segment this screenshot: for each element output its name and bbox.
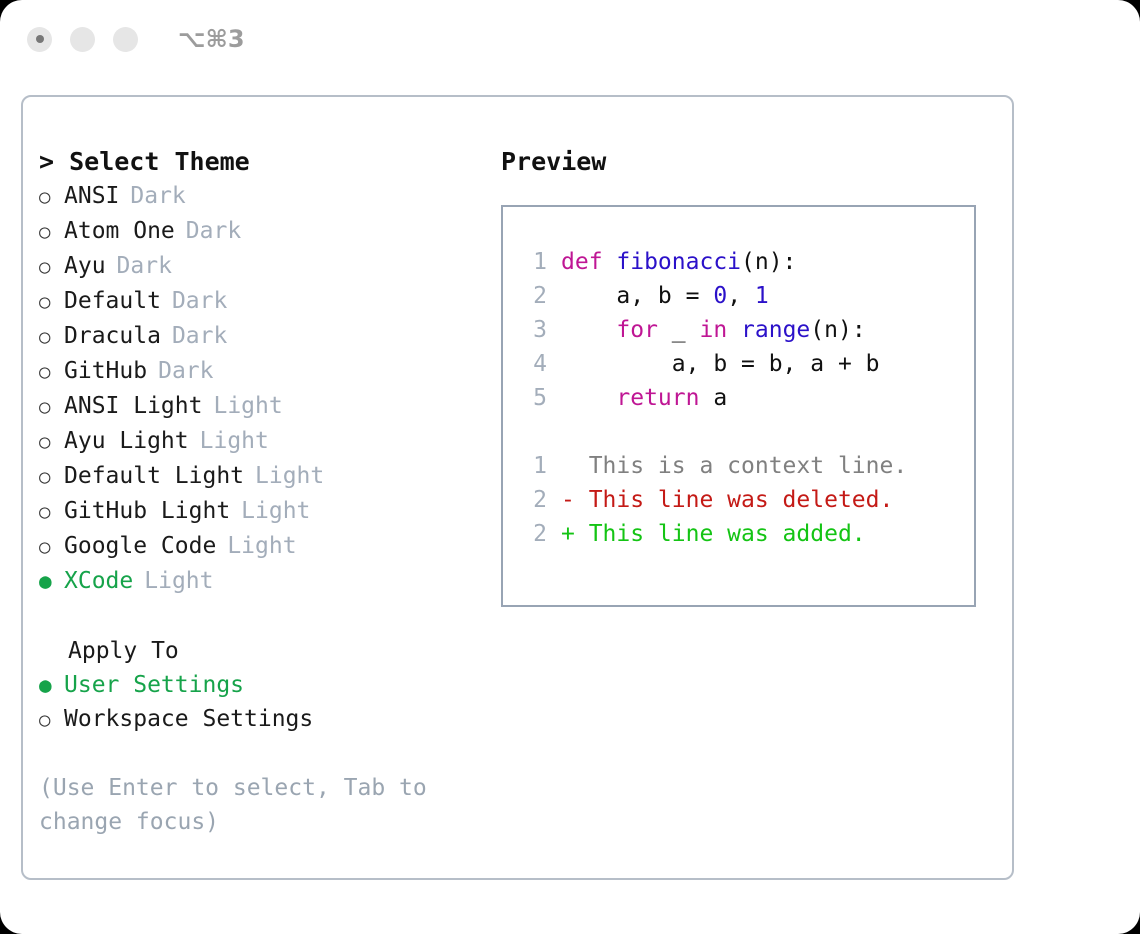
code-token: 0 xyxy=(713,279,727,313)
theme-variant-tag: Light xyxy=(255,459,324,493)
select-theme-heading: > Select Theme xyxy=(39,145,485,179)
theme-variant-tag: Dark xyxy=(172,319,227,353)
theme-list: ○ANSIDark○Atom OneDark○AyuDark○DefaultDa… xyxy=(39,179,485,598)
theme-name: Default Light xyxy=(64,459,244,493)
theme-variant-tag: Dark xyxy=(158,354,213,388)
main-panel: > Select Theme ○ANSIDark○Atom OneDark○Ay… xyxy=(21,95,1014,880)
radio-unselected-icon: ○ xyxy=(39,390,64,424)
window-control-maximize[interactable] xyxy=(113,27,138,52)
code-token xyxy=(727,313,741,347)
keyboard-shortcut-label: ⌥⌘3 xyxy=(178,25,245,53)
radio-unselected-icon: ○ xyxy=(39,530,64,564)
diff-sample: 1 This is a context line.2- This line wa… xyxy=(513,449,974,551)
diff-line: 2- This line was deleted. xyxy=(513,483,974,517)
theme-variant-tag: Dark xyxy=(186,214,241,248)
line-number: 1 xyxy=(513,449,547,483)
radio-unselected-icon: ○ xyxy=(39,460,64,494)
code-line: 2 a, b = 0, 1 xyxy=(513,279,974,313)
code-token: (n): xyxy=(741,245,796,279)
theme-list-item[interactable]: ○DefaultDark xyxy=(39,284,485,319)
theme-name: XCode xyxy=(64,564,133,598)
code-token: This is a context line. xyxy=(561,449,907,483)
theme-name: Ayu Light xyxy=(64,424,189,458)
code-token: range xyxy=(741,313,810,347)
keyboard-hint-text: (Use Enter to select, Tab to change focu… xyxy=(39,771,443,839)
title-bar: ⌥⌘3 xyxy=(0,0,1140,78)
theme-variant-tag: Dark xyxy=(117,249,172,283)
line-number: 3 xyxy=(513,313,547,347)
apply-to-item[interactable]: ○Workspace Settings xyxy=(39,702,485,737)
theme-list-item[interactable]: ○GitHub LightLight xyxy=(39,494,485,529)
theme-variant-tag: Light xyxy=(227,529,296,563)
code-token xyxy=(561,313,616,347)
code-line: 4 a, b = b, a + b xyxy=(513,347,974,381)
theme-list-item[interactable]: ○ANSI LightLight xyxy=(39,389,485,424)
app-window: ⌥⌘3 > Select Theme ○ANSIDark○Atom OneDar… xyxy=(0,0,1140,934)
diff-line: 1 This is a context line. xyxy=(513,449,974,483)
radio-unselected-icon: ○ xyxy=(39,285,64,319)
code-token: (n): xyxy=(810,313,865,347)
radio-unselected-icon: ○ xyxy=(39,703,64,737)
window-control-minimize[interactable] xyxy=(70,27,95,52)
line-number: 5 xyxy=(513,381,547,415)
apply-to-heading: Apply To xyxy=(39,634,485,668)
code-token: in xyxy=(699,313,727,347)
apply-to-item[interactable]: ●User Settings xyxy=(39,668,485,702)
code-token: - This line was deleted. xyxy=(561,483,893,517)
code-token: 1 xyxy=(755,279,769,313)
code-token: _ xyxy=(658,313,700,347)
theme-list-item[interactable]: ●XCodeLight xyxy=(39,564,485,598)
code-token: a, b = xyxy=(561,279,713,313)
code-token: a xyxy=(699,381,727,415)
radio-unselected-icon: ○ xyxy=(39,320,64,354)
theme-list-item[interactable]: ○ANSIDark xyxy=(39,179,485,214)
diff-line: 2+ This line was added. xyxy=(513,517,974,551)
theme-name: Dracula xyxy=(64,319,161,353)
code-token: fibonacci xyxy=(616,245,741,279)
theme-name: Atom One xyxy=(64,214,175,248)
code-token xyxy=(561,381,616,415)
radio-unselected-icon: ○ xyxy=(39,425,64,459)
theme-variant-tag: Dark xyxy=(130,179,185,213)
theme-selection-column: > Select Theme ○ANSIDark○Atom OneDark○Ay… xyxy=(23,97,485,878)
theme-name: Default xyxy=(64,284,161,318)
theme-name: Ayu xyxy=(64,249,106,283)
apply-to-label: User Settings xyxy=(64,668,244,702)
line-number: 2 xyxy=(513,483,547,517)
theme-name: GitHub xyxy=(64,354,147,388)
code-sample: 1def fibonacci(n):2 a, b = 0, 13 for _ i… xyxy=(513,245,974,415)
window-controls xyxy=(27,27,138,52)
theme-variant-tag: Light xyxy=(144,564,213,598)
radio-unselected-icon: ○ xyxy=(39,250,64,284)
line-number: 1 xyxy=(513,245,547,279)
theme-name: GitHub Light xyxy=(64,494,230,528)
theme-variant-tag: Light xyxy=(213,389,282,423)
line-number: 2 xyxy=(513,279,547,313)
code-token: return xyxy=(616,381,699,415)
code-line: 1def fibonacci(n): xyxy=(513,245,974,279)
preview-gap xyxy=(513,415,974,449)
preview-heading: Preview xyxy=(501,145,1012,179)
line-number: 4 xyxy=(513,347,547,381)
radio-unselected-icon: ○ xyxy=(39,215,64,249)
theme-name: ANSI Light xyxy=(64,389,202,423)
radio-unselected-icon: ○ xyxy=(39,495,64,529)
radio-selected-icon: ● xyxy=(39,668,64,702)
theme-name: Google Code xyxy=(64,529,216,563)
theme-list-item[interactable]: ○Ayu LightLight xyxy=(39,424,485,459)
active-indicator-dot xyxy=(36,35,44,43)
preview-column: Preview 1def fibonacci(n):2 a, b = 0, 13… xyxy=(485,97,1012,878)
theme-variant-tag: Light xyxy=(241,494,310,528)
theme-list-item[interactable]: ○Atom OneDark xyxy=(39,214,485,249)
theme-variant-tag: Light xyxy=(200,424,269,458)
theme-list-item[interactable]: ○DraculaDark xyxy=(39,319,485,354)
theme-list-item[interactable]: ○AyuDark xyxy=(39,249,485,284)
window-control-close[interactable] xyxy=(27,27,52,52)
line-number: 2 xyxy=(513,517,547,551)
apply-to-list: ●User Settings○Workspace Settings xyxy=(39,668,485,737)
theme-list-item[interactable]: ○Google CodeLight xyxy=(39,529,485,564)
code-line: 5 return a xyxy=(513,381,974,415)
radio-selected-icon: ● xyxy=(39,564,64,598)
theme-name: ANSI xyxy=(64,179,119,213)
theme-list-item[interactable]: ○GitHubDark xyxy=(39,354,485,389)
theme-list-item[interactable]: ○Default LightLight xyxy=(39,459,485,494)
code-token: + This line was added. xyxy=(561,517,866,551)
radio-unselected-icon: ○ xyxy=(39,355,64,389)
theme-variant-tag: Dark xyxy=(172,284,227,318)
code-line: 3 for _ in range(n): xyxy=(513,313,974,347)
code-token: , xyxy=(727,279,755,313)
code-token: for xyxy=(616,313,658,347)
code-token: def xyxy=(561,245,616,279)
code-token: a, b = b, a + b xyxy=(561,347,880,381)
preview-box: 1def fibonacci(n):2 a, b = 0, 13 for _ i… xyxy=(501,205,976,607)
radio-unselected-icon: ○ xyxy=(39,180,64,214)
apply-to-label: Workspace Settings xyxy=(64,702,313,736)
